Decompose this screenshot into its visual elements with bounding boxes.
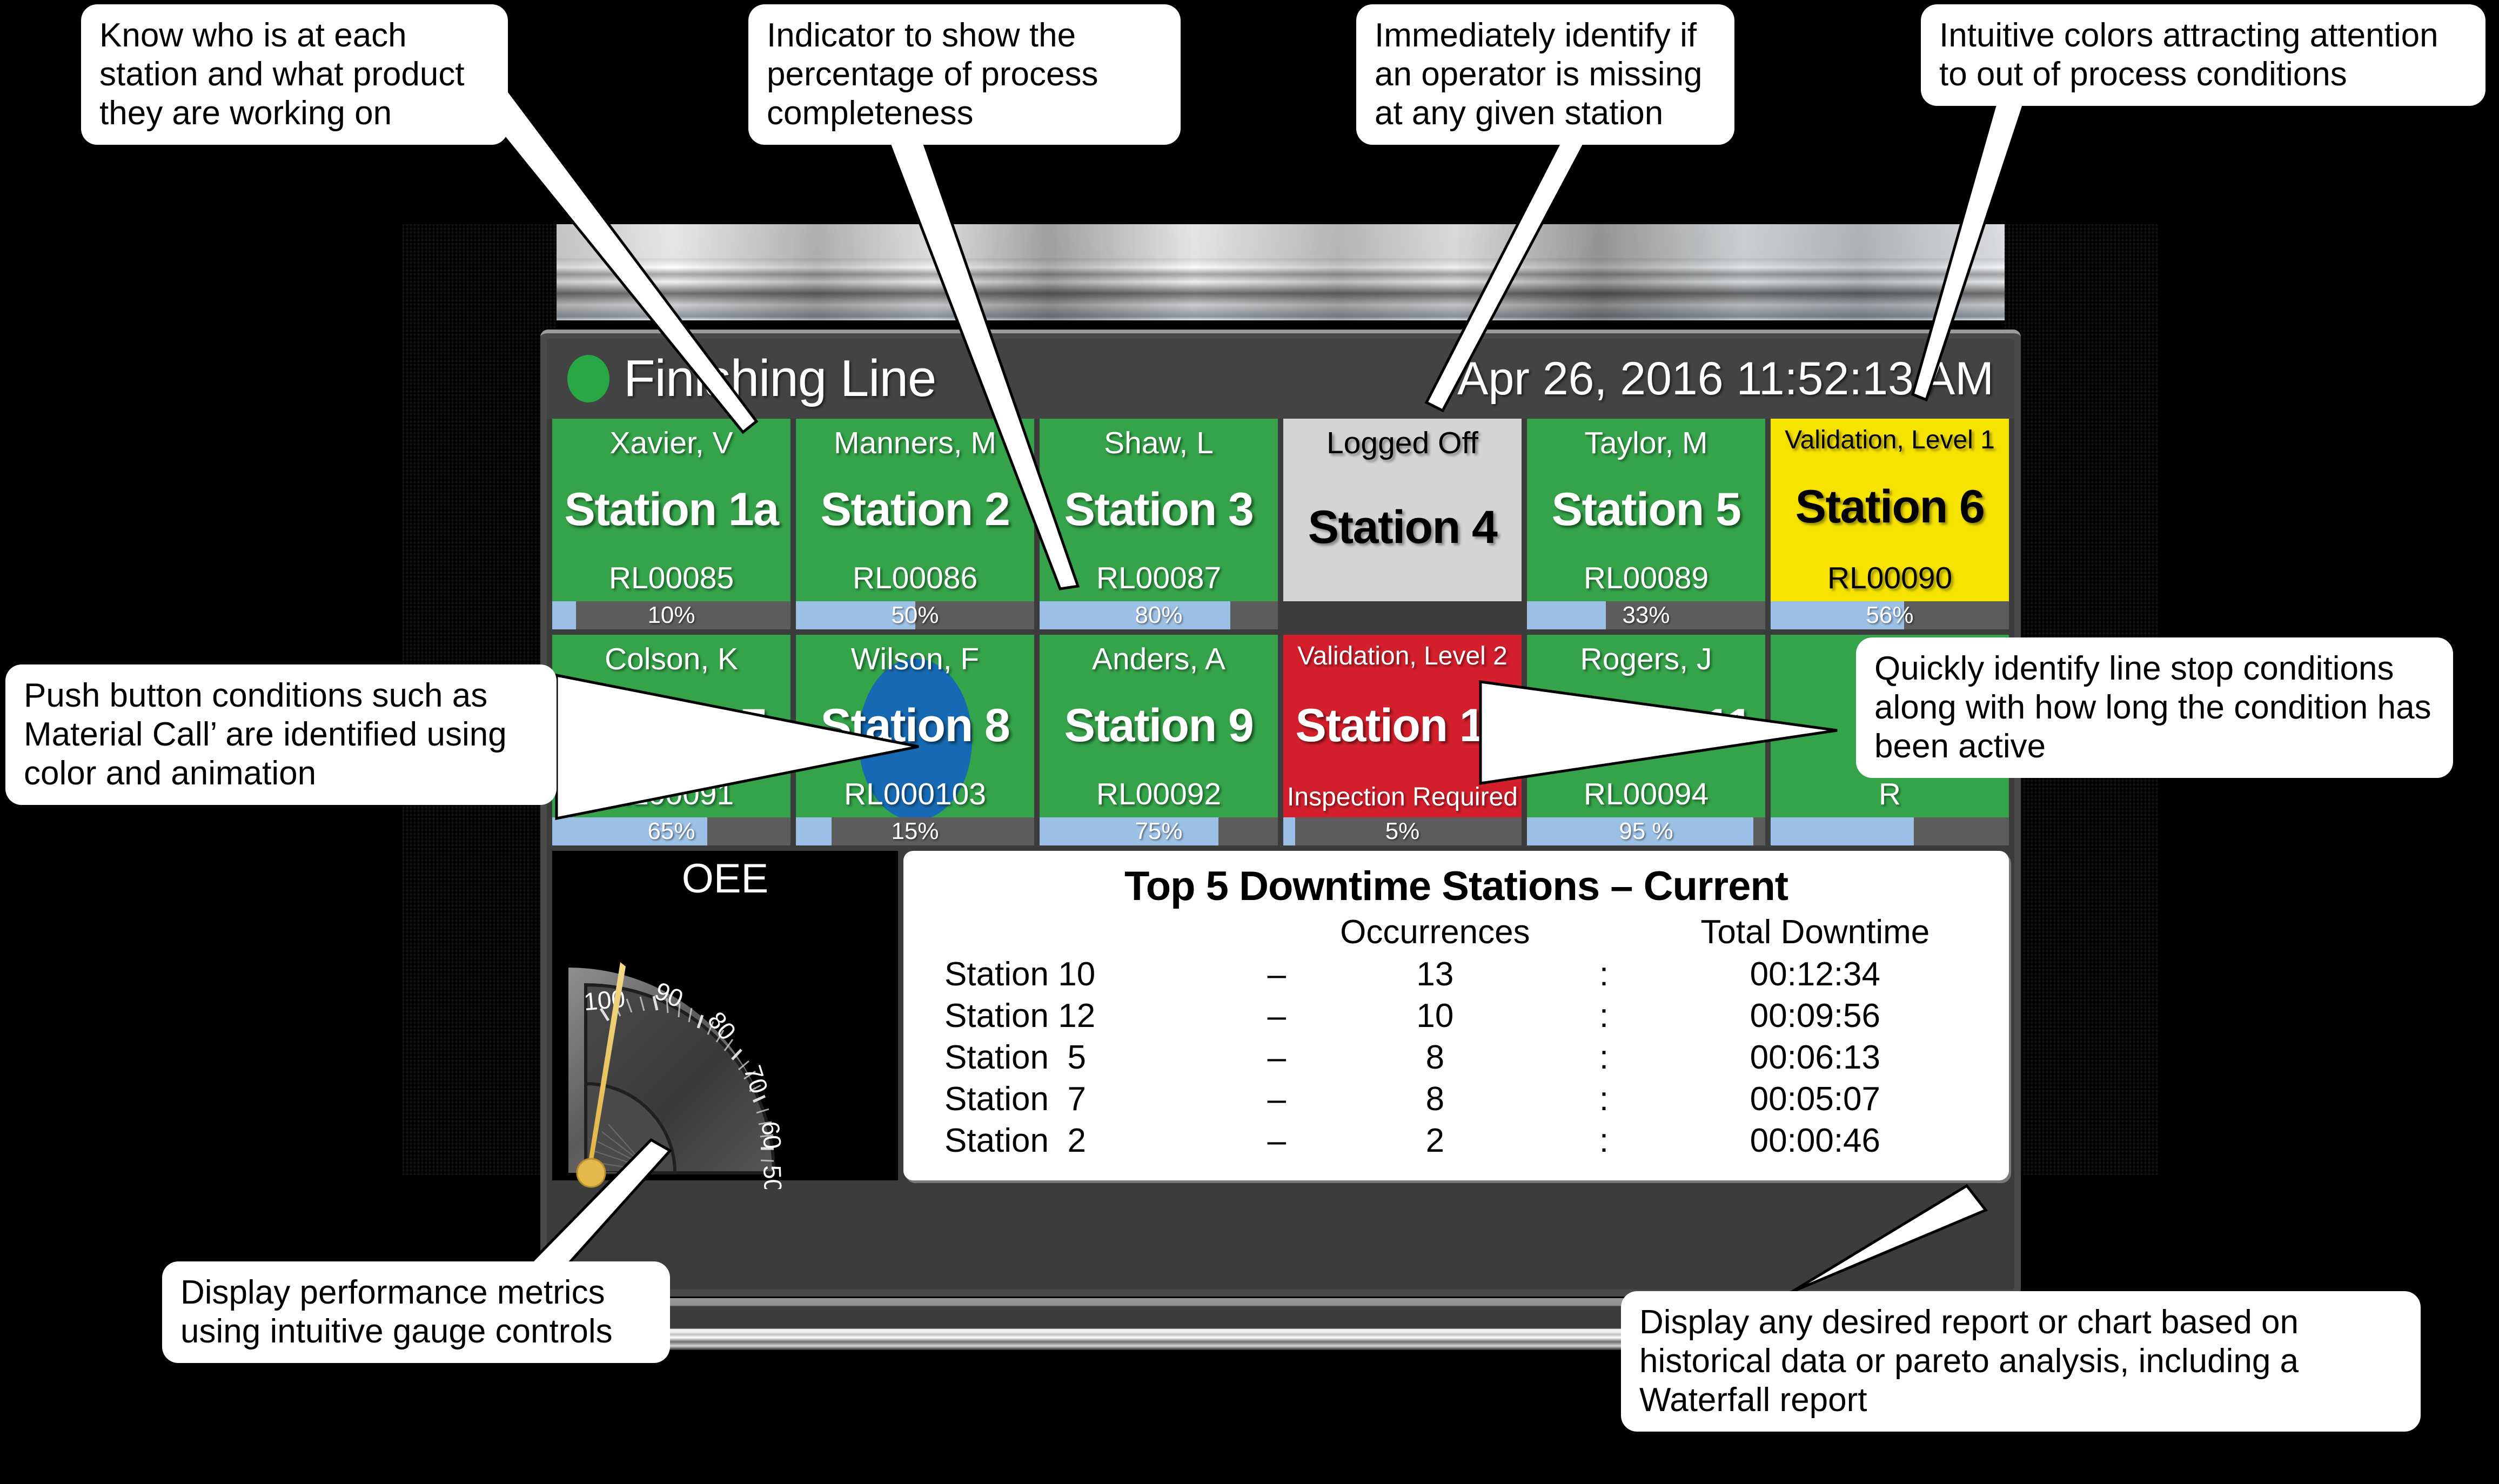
callout-intuitive-colors: Intuitive colors attracting attention to… [1921, 4, 2485, 106]
callout-gauge-controls: Display performance metrics using intuit… [162, 1261, 670, 1363]
callout-push-button-conditions: Push button conditions such as Material … [5, 664, 557, 805]
callout-operator-missing: Immediately identify if an operator is m… [1356, 4, 1734, 145]
callout-operator-product: Know who is at each station and what pro… [81, 4, 508, 145]
callout-completeness-indicator: Indicator to show the percentage of proc… [748, 4, 1181, 145]
callout-report-chart: Display any desired report or chart base… [1621, 1291, 2421, 1432]
screenshot-root: Finishing Line Apr 26, 2016 11:52:13 AM … [0, 0, 2499, 1484]
callout-line-stop-conditions: Quickly identify line stop conditions al… [1856, 637, 2453, 778]
